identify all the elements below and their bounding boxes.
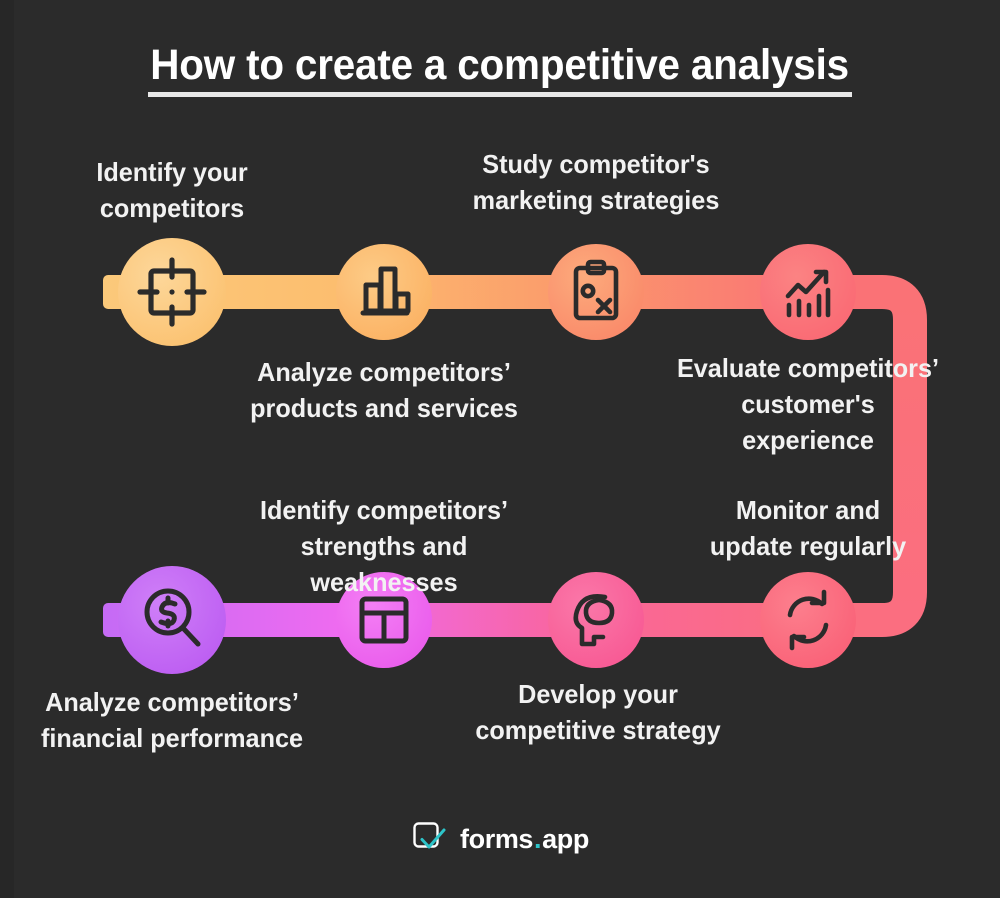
step-label-2: Analyze competitors’ products and servic…	[248, 354, 520, 426]
step-node-1[interactable]	[118, 238, 226, 346]
step-node-7[interactable]	[548, 572, 644, 668]
step-node-2[interactable]	[336, 244, 432, 340]
step-label-5: Analyze competitors’ financial performan…	[36, 684, 308, 756]
step-label-1: Identify your competitors	[36, 154, 308, 226]
step-label-6: Identify competitors’ strengths and weak…	[239, 492, 530, 600]
brand-name-second: app	[542, 824, 589, 855]
step-label-3: Study competitor's marketing strategies	[460, 146, 732, 218]
infographic-canvas: How to create a competitive analysis	[0, 0, 1000, 898]
step-label-7: Develop your competitive strategy	[462, 676, 734, 748]
brand-name-dot: .	[534, 824, 541, 855]
step-node-4[interactable]	[760, 244, 856, 340]
step-node-5[interactable]	[118, 566, 226, 674]
step-label-4: Evaluate competitors’ customer's experie…	[672, 350, 944, 458]
forms-app-check-icon	[411, 820, 449, 858]
step-label-8: Monitor and update regularly	[672, 492, 944, 564]
brand-name-first: forms	[460, 824, 533, 855]
step-node-3[interactable]	[548, 244, 644, 340]
footer-brand[interactable]: forms . app	[0, 820, 1000, 858]
step-node-8[interactable]	[760, 572, 856, 668]
